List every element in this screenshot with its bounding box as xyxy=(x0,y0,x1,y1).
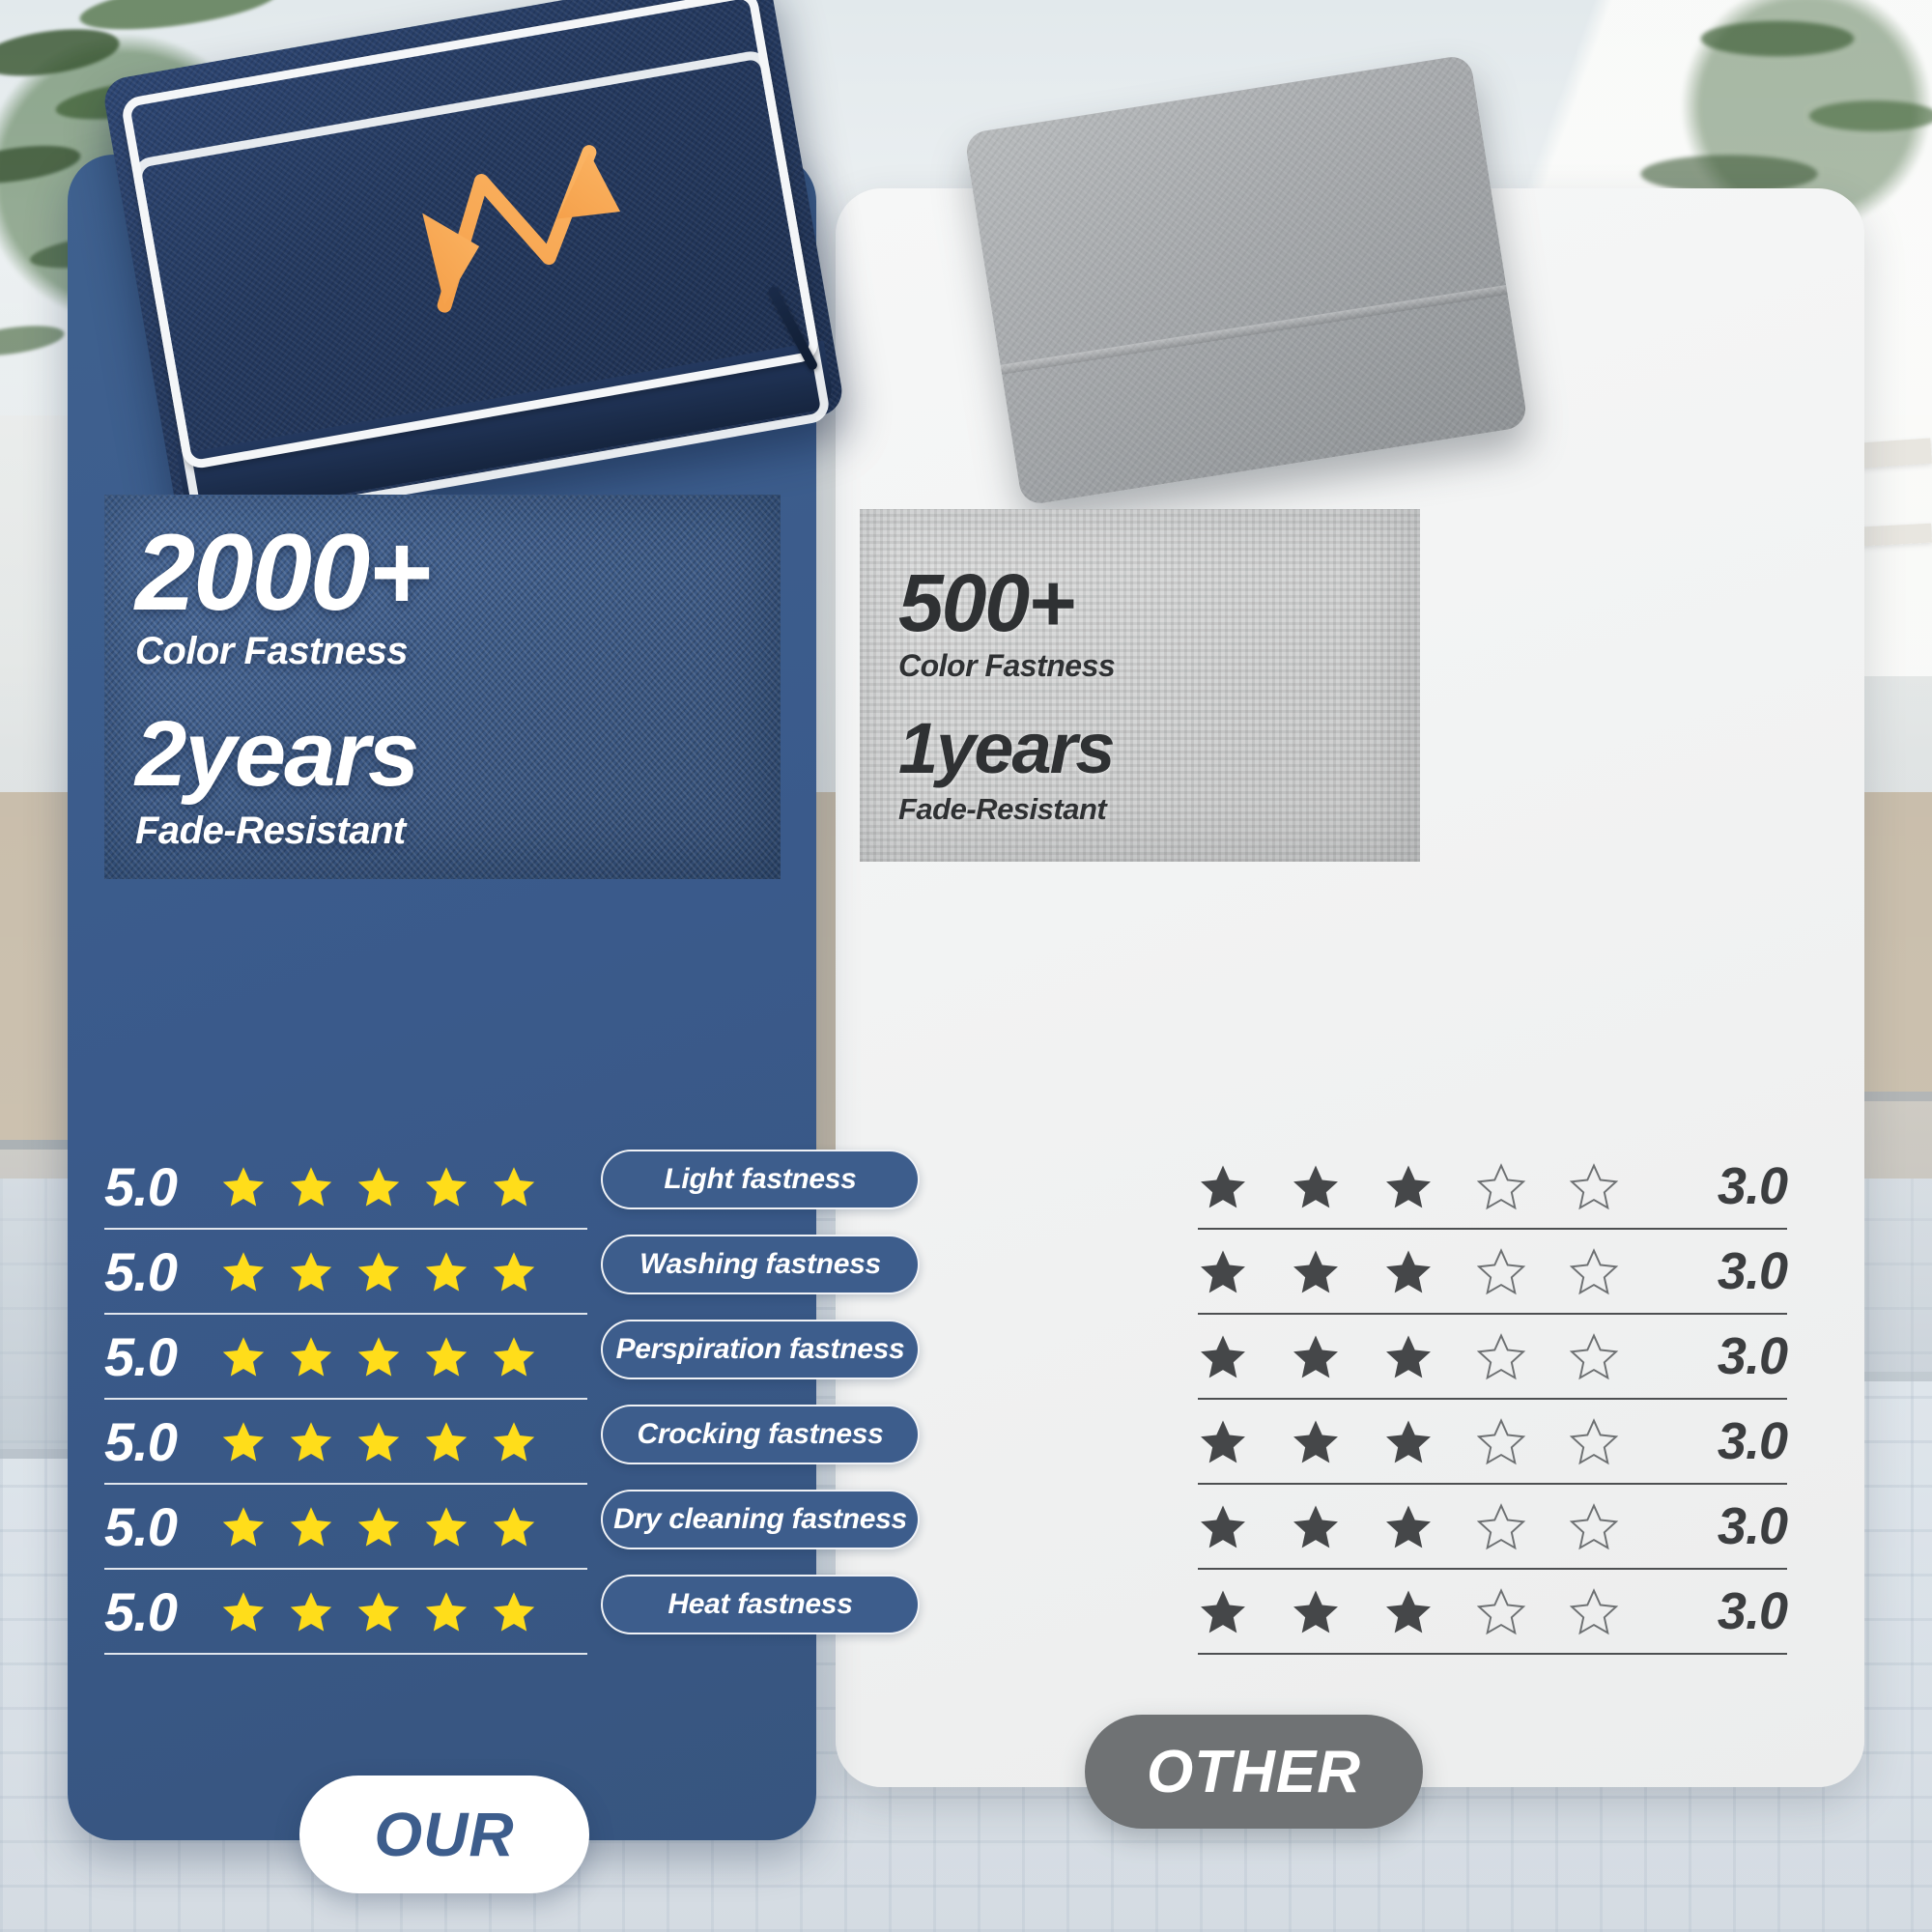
star-filled-icon xyxy=(491,1418,537,1464)
our-badge-label: OUR xyxy=(374,1799,514,1870)
table-row: 5.0 xyxy=(104,1230,587,1315)
star-empty-icon xyxy=(1476,1586,1526,1636)
star-filled-icon xyxy=(1383,1331,1434,1381)
other-fade-label: Fade-Resistant xyxy=(898,792,1114,827)
star-filled-icon xyxy=(220,1333,267,1379)
star-filled-icon xyxy=(220,1248,267,1294)
other-star-rating xyxy=(1198,1501,1662,1551)
star-filled-icon xyxy=(1383,1501,1434,1551)
our-score: 5.0 xyxy=(104,1155,220,1218)
table-row: 3.0 xyxy=(1198,1400,1787,1485)
star-filled-icon xyxy=(355,1333,402,1379)
other-star-rating xyxy=(1198,1416,1662,1466)
other-fade-value: 1years xyxy=(898,715,1114,782)
star-filled-icon xyxy=(1291,1501,1341,1551)
our-score: 5.0 xyxy=(104,1325,220,1388)
star-filled-icon xyxy=(1383,1246,1434,1296)
criteria-labels-list: Light fastnessWashing fastnessPerspirati… xyxy=(601,1150,1180,1660)
star-empty-icon xyxy=(1569,1331,1619,1381)
table-row: 3.0 xyxy=(1198,1570,1787,1655)
table-row: 5.0 xyxy=(104,1315,587,1400)
other-star-rating xyxy=(1198,1586,1662,1636)
table-row: 5.0 xyxy=(104,1570,587,1655)
our-color-fastness-value: 2000+ xyxy=(135,522,430,624)
star-filled-icon xyxy=(491,1163,537,1209)
star-filled-icon xyxy=(1383,1586,1434,1636)
star-empty-icon xyxy=(1569,1246,1619,1296)
star-filled-icon xyxy=(288,1248,334,1294)
star-filled-icon xyxy=(1198,1501,1248,1551)
other-score: 3.0 xyxy=(1662,1241,1787,1301)
star-filled-icon xyxy=(220,1163,267,1209)
star-filled-icon xyxy=(1291,1586,1341,1636)
criteria-pill: Crocking fastness xyxy=(601,1405,920,1464)
star-empty-icon xyxy=(1476,1331,1526,1381)
other-score: 3.0 xyxy=(1662,1411,1787,1471)
star-filled-icon xyxy=(1383,1416,1434,1466)
star-empty-icon xyxy=(1569,1416,1619,1466)
criteria-pill: Dry cleaning fastness xyxy=(601,1490,920,1549)
star-filled-icon xyxy=(1291,1416,1341,1466)
star-filled-icon xyxy=(1198,1416,1248,1466)
other-color-fastness-stat: 500+ Color Fastness xyxy=(898,565,1115,684)
star-filled-icon xyxy=(1198,1161,1248,1211)
table-row: 3.0 xyxy=(1198,1315,1787,1400)
other-score: 3.0 xyxy=(1662,1581,1787,1641)
criteria-label: Heat fastness xyxy=(668,1588,852,1621)
criteria-label: Light fastness xyxy=(664,1163,856,1196)
other-badge-label: OTHER xyxy=(1147,1738,1361,1806)
our-color-fastness-label: Color Fastness xyxy=(135,630,430,673)
our-star-rating xyxy=(220,1418,537,1464)
our-ratings-list: 5.05.05.05.05.05.0 xyxy=(104,1145,587,1655)
our-score: 5.0 xyxy=(104,1495,220,1558)
star-filled-icon xyxy=(423,1503,469,1549)
star-empty-icon xyxy=(1569,1161,1619,1211)
star-filled-icon xyxy=(1198,1331,1248,1381)
star-filled-icon xyxy=(1198,1246,1248,1296)
our-score: 5.0 xyxy=(104,1240,220,1303)
other-color-fastness-label: Color Fastness xyxy=(898,648,1115,684)
table-row: 5.0 xyxy=(104,1400,587,1485)
other-fade-stat: 1years Fade-Resistant xyxy=(898,715,1114,827)
other-score: 3.0 xyxy=(1662,1156,1787,1216)
our-star-rating xyxy=(220,1588,537,1634)
our-star-rating xyxy=(220,1248,537,1294)
star-empty-icon xyxy=(1569,1501,1619,1551)
table-row: 5.0 xyxy=(104,1145,587,1230)
star-filled-icon xyxy=(491,1333,537,1379)
star-filled-icon xyxy=(423,1163,469,1209)
other-score: 3.0 xyxy=(1662,1496,1787,1556)
criteria-pill: Perspiration fastness xyxy=(601,1320,920,1379)
star-filled-icon xyxy=(355,1418,402,1464)
our-score: 5.0 xyxy=(104,1580,220,1643)
star-filled-icon xyxy=(1383,1161,1434,1211)
star-filled-icon xyxy=(1291,1331,1341,1381)
star-filled-icon xyxy=(1198,1586,1248,1636)
star-filled-icon xyxy=(355,1503,402,1549)
star-filled-icon xyxy=(491,1588,537,1634)
criteria-label: Perspiration fastness xyxy=(616,1333,905,1366)
star-empty-icon xyxy=(1476,1501,1526,1551)
star-filled-icon xyxy=(288,1418,334,1464)
other-badge: OTHER xyxy=(1085,1715,1423,1829)
star-empty-icon xyxy=(1476,1161,1526,1211)
star-filled-icon xyxy=(355,1163,402,1209)
star-filled-icon xyxy=(220,1588,267,1634)
star-filled-icon xyxy=(288,1333,334,1379)
star-filled-icon xyxy=(1291,1161,1341,1211)
our-star-rating xyxy=(220,1163,537,1209)
other-star-rating xyxy=(1198,1246,1662,1296)
star-empty-icon xyxy=(1476,1416,1526,1466)
table-row: 3.0 xyxy=(1198,1145,1787,1230)
other-cushion-image xyxy=(964,54,1528,506)
star-filled-icon xyxy=(423,1333,469,1379)
our-fade-stat: 2years Fade-Resistant xyxy=(135,710,417,853)
star-filled-icon xyxy=(423,1248,469,1294)
other-star-rating xyxy=(1198,1331,1662,1381)
criteria-pill: Heat fastness xyxy=(601,1575,920,1634)
star-filled-icon xyxy=(220,1503,267,1549)
star-filled-icon xyxy=(288,1163,334,1209)
our-star-rating xyxy=(220,1503,537,1549)
table-row: 3.0 xyxy=(1198,1230,1787,1315)
criteria-label: Crocking fastness xyxy=(638,1418,884,1451)
star-filled-icon xyxy=(423,1588,469,1634)
our-color-fastness-stat: 2000+ Color Fastness xyxy=(135,522,430,673)
our-fade-label: Fade-Resistant xyxy=(135,810,417,853)
star-empty-icon xyxy=(1476,1246,1526,1296)
star-filled-icon xyxy=(491,1503,537,1549)
criteria-pill: Washing fastness xyxy=(601,1235,920,1294)
star-filled-icon xyxy=(355,1588,402,1634)
other-color-fastness-value: 500+ xyxy=(898,565,1115,642)
other-star-rating xyxy=(1198,1161,1662,1211)
star-filled-icon xyxy=(355,1248,402,1294)
star-filled-icon xyxy=(288,1588,334,1634)
our-badge: OUR xyxy=(299,1776,589,1893)
other-score: 3.0 xyxy=(1662,1326,1787,1386)
star-filled-icon xyxy=(288,1503,334,1549)
table-row: 3.0 xyxy=(1198,1485,1787,1570)
criteria-pill: Light fastness xyxy=(601,1150,920,1209)
criteria-label: Dry cleaning fastness xyxy=(613,1503,907,1536)
our-star-rating xyxy=(220,1333,537,1379)
star-filled-icon xyxy=(220,1418,267,1464)
star-filled-icon xyxy=(423,1418,469,1464)
star-filled-icon xyxy=(1291,1246,1341,1296)
other-ratings-list: 3.03.03.03.03.03.0 xyxy=(1198,1145,1787,1655)
criteria-label: Washing fastness xyxy=(639,1248,881,1281)
our-score: 5.0 xyxy=(104,1410,220,1473)
our-fade-value: 2years xyxy=(135,710,417,798)
table-row: 5.0 xyxy=(104,1485,587,1570)
star-filled-icon xyxy=(491,1248,537,1294)
star-empty-icon xyxy=(1569,1586,1619,1636)
